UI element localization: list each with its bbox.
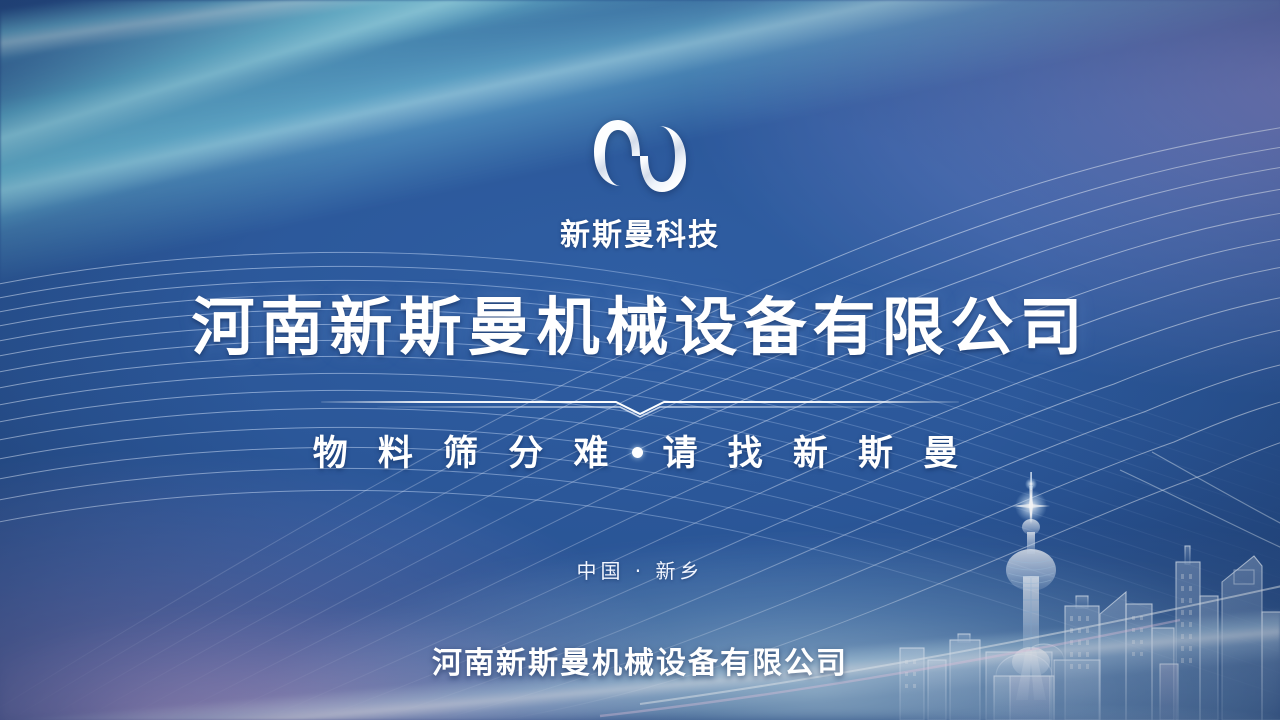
location-label: 中国 · 新乡 [0, 555, 1280, 584]
page-title: 河南新斯曼机械设备有限公司 [0, 296, 1280, 359]
interlocking-s-monogram-icon [588, 108, 692, 204]
footer-caption: 河南新斯曼机械设备有限公司 [0, 638, 1280, 682]
bullet-separator-icon [632, 447, 643, 458]
title-card-canvas: 新斯曼科技 河南新斯曼机械设备有限公司 [0, 0, 1280, 720]
brand-logo-block: 新斯曼科技 [0, 108, 1280, 254]
brand-wordmark: 新斯曼科技 [560, 210, 720, 254]
tagline: 物 料 筛 分 难请 找 新 斯 曼 [0, 425, 1280, 476]
tagline-right: 请 找 新 斯 曼 [663, 434, 968, 474]
tagline-left: 物 料 筛 分 难 [313, 434, 618, 474]
ornamental-v-divider-icon [0, 396, 1280, 418]
